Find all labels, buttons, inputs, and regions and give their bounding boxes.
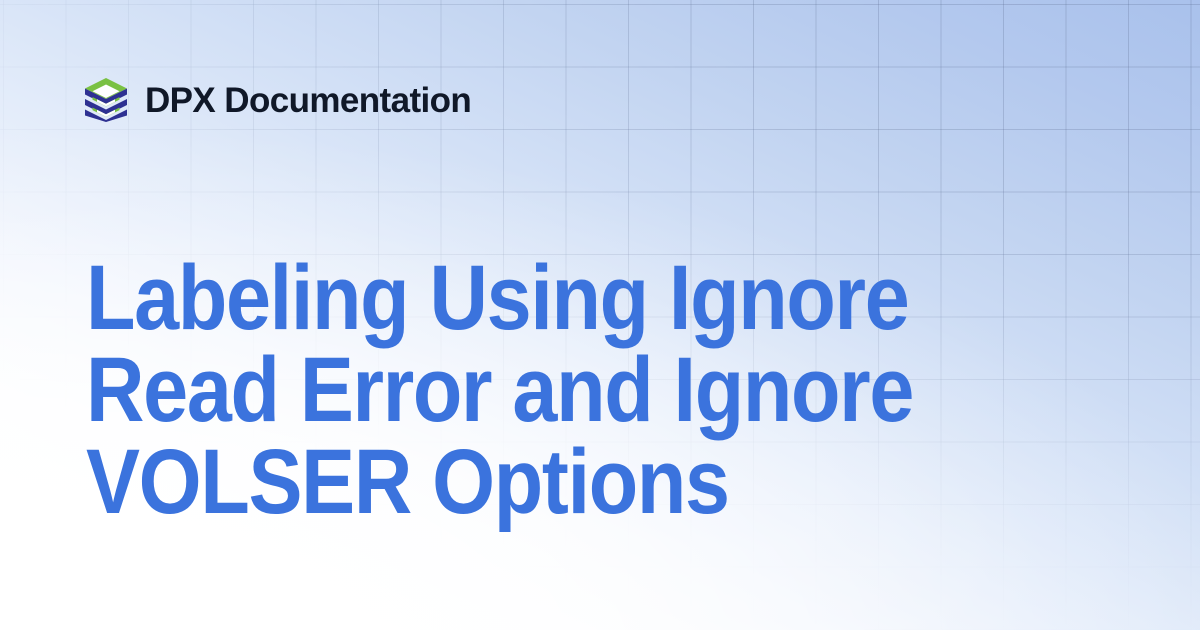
page-title: Labeling Using Ignore Read Error and Ign… — [86, 252, 1080, 528]
brand-name: DPX Documentation — [145, 83, 471, 118]
page-title-line-3: VOLSER Options — [86, 436, 961, 528]
page-title-line-1: Labeling Using Ignore — [86, 252, 961, 344]
card-content: DPX Documentation Labeling Using Ignore … — [0, 0, 1200, 630]
page-title-line-2: Read Error and Ignore — [86, 344, 961, 436]
social-card: DPX Documentation Labeling Using Ignore … — [0, 0, 1200, 630]
stacked-layers-icon — [84, 77, 128, 123]
brand: DPX Documentation — [84, 74, 471, 126]
